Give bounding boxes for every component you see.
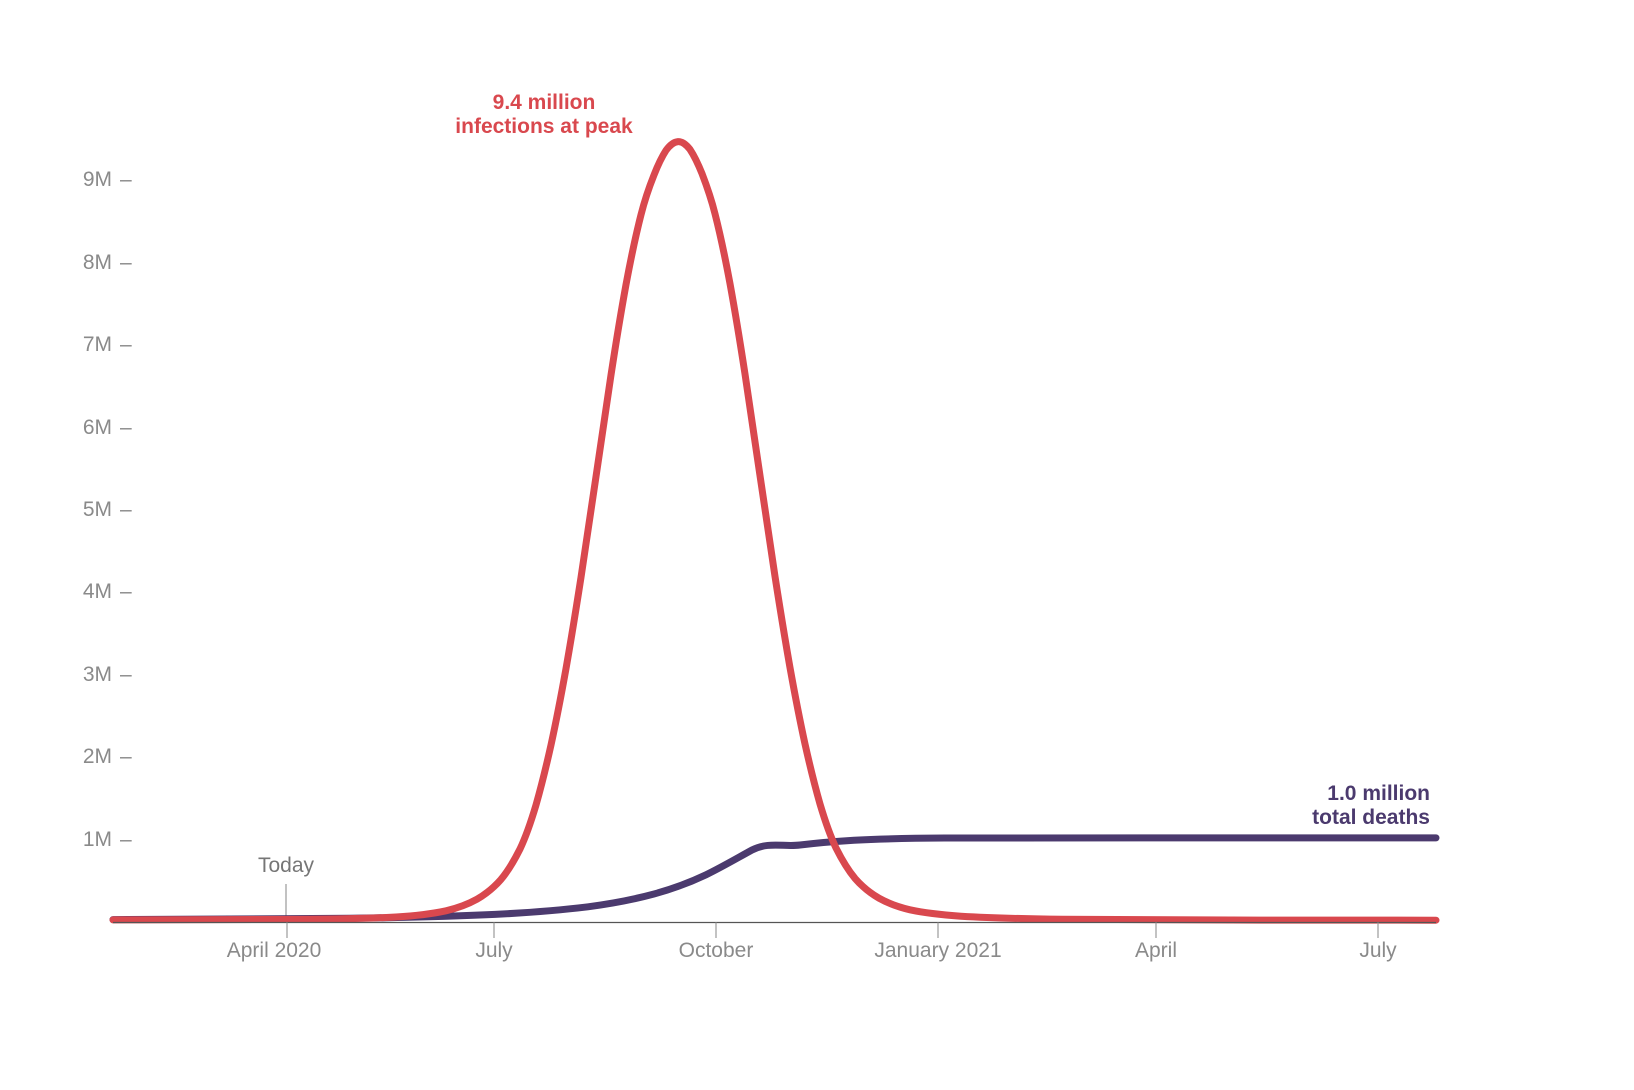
x-axis-tick-labels: April 2020 July October January 2021 Apr…: [227, 939, 1397, 962]
x-tick-label-october-2020: October: [679, 939, 754, 962]
x-tick-label-april-2021: April: [1135, 939, 1177, 962]
y-tick-label-8m: 8M: [83, 251, 112, 274]
peak-annotation-line-1: 9.4 million: [493, 91, 596, 114]
today-marker: Today: [258, 854, 315, 921]
y-tick-label-3m: 3M: [83, 663, 112, 686]
y-tick-dash-8m: –: [120, 251, 132, 274]
y-tick-dash-7m: –: [120, 333, 132, 356]
annotation-peak-infections: 9.4 million infections at peak: [455, 91, 633, 138]
y-tick-dash-1m: –: [120, 828, 132, 851]
y-tick-label-1m: 1M: [83, 828, 112, 851]
y-tick-dash-5m: –: [120, 498, 132, 521]
x-tick-label-april-2020: April 2020: [227, 939, 322, 962]
deaths-annotation-line-2: total deaths: [1312, 806, 1430, 829]
annotation-total-deaths: 1.0 million total deaths: [1312, 782, 1430, 829]
y-tick-label-4m: 4M: [83, 580, 112, 603]
y-tick-dash-2m: –: [120, 745, 132, 768]
today-label: Today: [258, 854, 315, 877]
y-axis-tick-labels: 9M – 8M – 7M – 6M – 5M – 4M – 3M – 2M – …: [83, 168, 132, 851]
peak-annotation-line-2: infections at peak: [455, 115, 633, 138]
x-tick-label-july-2021: July: [1359, 939, 1397, 962]
y-tick-label-5m: 5M: [83, 498, 112, 521]
x-axis-tick-marks: [287, 923, 1378, 939]
y-tick-dash-3m: –: [120, 663, 132, 686]
x-tick-label-january-2021: January 2021: [874, 939, 1001, 962]
y-tick-dash-9m: –: [120, 168, 132, 191]
y-tick-label-9m: 9M: [83, 168, 112, 191]
chart-container: 9M – 8M – 7M – 6M – 5M – 4M – 3M – 2M – …: [0, 0, 1634, 1090]
deaths-annotation-line-1: 1.0 million: [1327, 782, 1430, 805]
y-tick-label-2m: 2M: [83, 745, 112, 768]
series-line-infections: [113, 142, 1436, 921]
y-tick-dash-6m: –: [120, 416, 132, 439]
y-tick-label-7m: 7M: [83, 333, 112, 356]
epidemic-projection-chart: 9M – 8M – 7M – 6M – 5M – 4M – 3M – 2M – …: [0, 0, 1634, 1090]
y-tick-dash-4m: –: [120, 580, 132, 603]
y-tick-label-6m: 6M: [83, 416, 112, 439]
series-line-deaths-final: [113, 838, 1436, 920]
x-tick-label-july-2020: July: [475, 939, 513, 962]
